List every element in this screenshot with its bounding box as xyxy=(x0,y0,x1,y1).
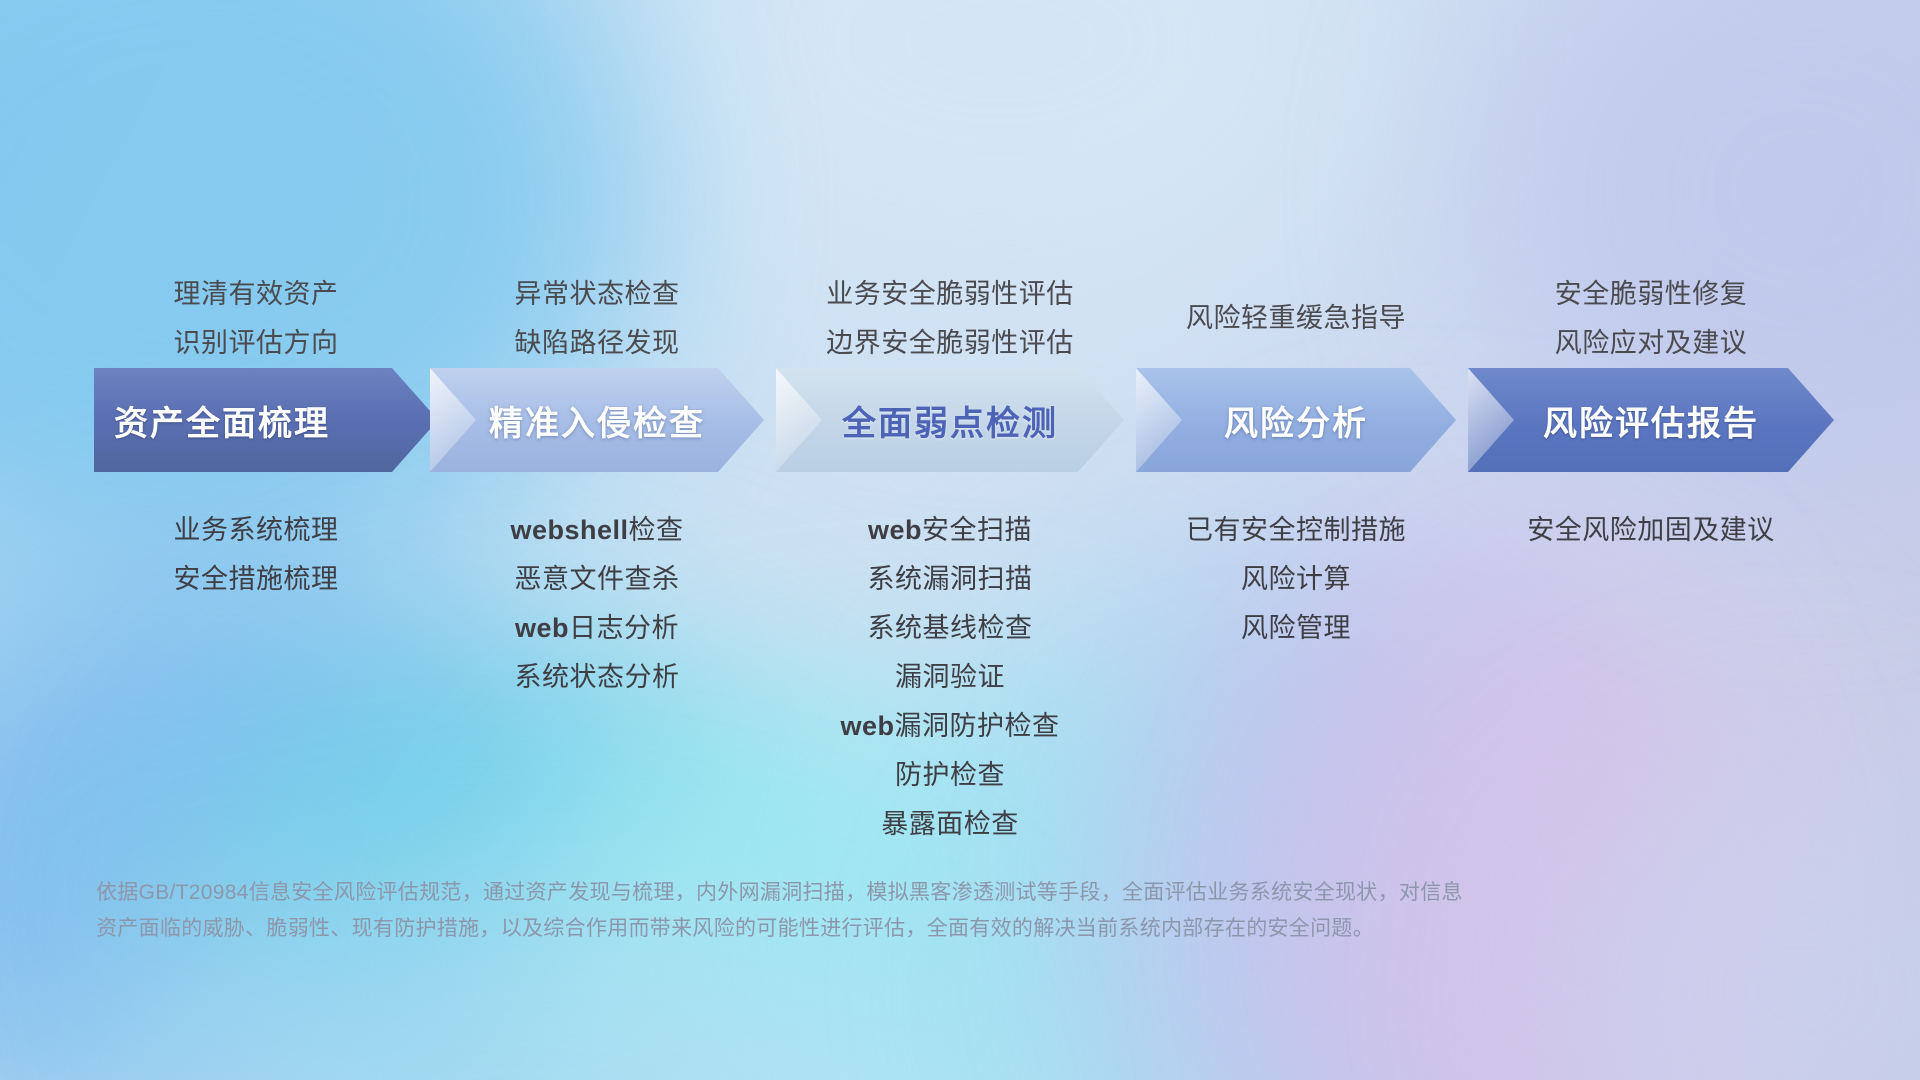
output-lead: web xyxy=(868,515,922,545)
output-text: 风险计算 xyxy=(1241,564,1351,594)
stage-title: 风险评估报告 xyxy=(1543,396,1759,445)
output-item: 安全措施梳理 xyxy=(94,555,418,604)
output-text: 业务系统梳理 xyxy=(174,515,339,545)
stage-4-inputs: 风险轻重缓急指导 xyxy=(1136,294,1456,343)
stage-chevron-1[interactable]: 资产全面梳理 xyxy=(94,368,438,472)
output-lead: web xyxy=(515,613,569,643)
output-item: 系统基线检查 xyxy=(776,604,1124,653)
stage-title: 全面弱点检测 xyxy=(842,396,1058,445)
output-text: 恶意文件查杀 xyxy=(515,564,680,594)
output-text: 系统漏洞扫描 xyxy=(868,564,1033,594)
stage-5-outputs: 安全风险加固及建议 xyxy=(1468,506,1834,555)
output-item: web日志分析 xyxy=(430,604,764,653)
stage-1-inputs: 理清有效资产 识别评估方向 xyxy=(94,270,418,368)
output-text: 已有安全控制措施 xyxy=(1186,515,1406,545)
stage-4-outputs: 已有安全控制措施 风险计算 风险管理 xyxy=(1136,506,1456,653)
output-item: 风险计算 xyxy=(1136,555,1456,604)
input-line: 识别评估方向 xyxy=(94,319,418,368)
stage-3-outputs: web安全扫描 系统漏洞扫描 系统基线检查 漏洞验证 web漏洞防护检查 防护检… xyxy=(776,506,1124,849)
input-line: 安全脆弱性修复 xyxy=(1468,270,1834,319)
stage-3-inputs: 业务安全脆弱性评估 边界安全脆弱性评估 xyxy=(776,270,1124,368)
output-item: 系统漏洞扫描 xyxy=(776,555,1124,604)
output-item: 暴露面检查 xyxy=(776,800,1124,849)
output-text: 检查 xyxy=(629,515,684,545)
output-text: 系统基线检查 xyxy=(868,613,1033,643)
output-item: 安全风险加固及建议 xyxy=(1468,506,1834,555)
stage-2-outputs: webshell检查 恶意文件查杀 web日志分析 系统状态分析 xyxy=(430,506,764,702)
input-line: 风险轻重缓急指导 xyxy=(1136,294,1456,343)
output-item: 已有安全控制措施 xyxy=(1136,506,1456,555)
stage-chevron-3[interactable]: 全面弱点检测 xyxy=(776,368,1124,472)
output-lead: web xyxy=(840,711,894,741)
output-text: 漏洞防护检查 xyxy=(895,711,1060,741)
stage-title: 风险分析 xyxy=(1224,396,1368,445)
output-text: 漏洞验证 xyxy=(895,662,1005,692)
input-line: 风险应对及建议 xyxy=(1468,319,1834,368)
stage-chevron-band: 资产全面梳理 精准入侵检查 全面弱点检测 风险分析 风险评估报告 xyxy=(0,368,1920,472)
output-item: 防护检查 xyxy=(776,751,1124,800)
stage-1-outputs: 业务系统梳理 安全措施梳理 xyxy=(94,506,418,604)
output-text: 安全扫描 xyxy=(922,515,1032,545)
output-item: 系统状态分析 xyxy=(430,653,764,702)
output-item: 漏洞验证 xyxy=(776,653,1124,702)
output-text: 日志分析 xyxy=(569,613,679,643)
output-item: 恶意文件查杀 xyxy=(430,555,764,604)
output-item: web漏洞防护检查 xyxy=(776,702,1124,751)
input-line: 异常状态检查 xyxy=(430,270,764,319)
output-text: 安全措施梳理 xyxy=(174,564,339,594)
footer-line-1: 依据GB/T20984信息安全风险评估规范，通过资产发现与梳理，内外网漏洞扫描，… xyxy=(96,875,1656,911)
output-text: 防护检查 xyxy=(895,760,1005,790)
input-line: 边界安全脆弱性评估 xyxy=(776,319,1124,368)
output-text: 系统状态分析 xyxy=(515,662,680,692)
stage-title: 精准入侵检查 xyxy=(489,396,705,445)
stage-chevron-4[interactable]: 风险分析 xyxy=(1136,368,1456,472)
footer-line-2: 资产面临的威胁、脆弱性、现有防护措施，以及综合作用而带来风险的可能性进行评估，全… xyxy=(96,911,1656,947)
output-text: 暴露面检查 xyxy=(881,809,1019,839)
footer-description: 依据GB/T20984信息安全风险评估规范，通过资产发现与梳理，内外网漏洞扫描，… xyxy=(96,875,1656,947)
stage-chevron-2[interactable]: 精准入侵检查 xyxy=(430,368,764,472)
input-line: 缺陷路径发现 xyxy=(430,319,764,368)
stage-title: 资产全面梳理 xyxy=(114,396,330,445)
output-item: web安全扫描 xyxy=(776,506,1124,555)
process-diagram: 理清有效资产 识别评估方向 异常状态检查 缺陷路径发现 业务安全脆弱性评估 边界… xyxy=(0,0,1920,1080)
input-line: 业务安全脆弱性评估 xyxy=(776,270,1124,319)
output-item: 业务系统梳理 xyxy=(94,506,418,555)
output-text: 安全风险加固及建议 xyxy=(1527,515,1775,545)
stage-5-inputs: 安全脆弱性修复 风险应对及建议 xyxy=(1468,270,1834,368)
output-item: 风险管理 xyxy=(1136,604,1456,653)
stage-2-inputs: 异常状态检查 缺陷路径发现 xyxy=(430,270,764,368)
input-line: 理清有效资产 xyxy=(94,270,418,319)
output-item: webshell检查 xyxy=(430,506,764,555)
stage-chevron-5[interactable]: 风险评估报告 xyxy=(1468,368,1834,472)
output-lead: webshell xyxy=(510,515,628,545)
output-text: 风险管理 xyxy=(1241,613,1351,643)
